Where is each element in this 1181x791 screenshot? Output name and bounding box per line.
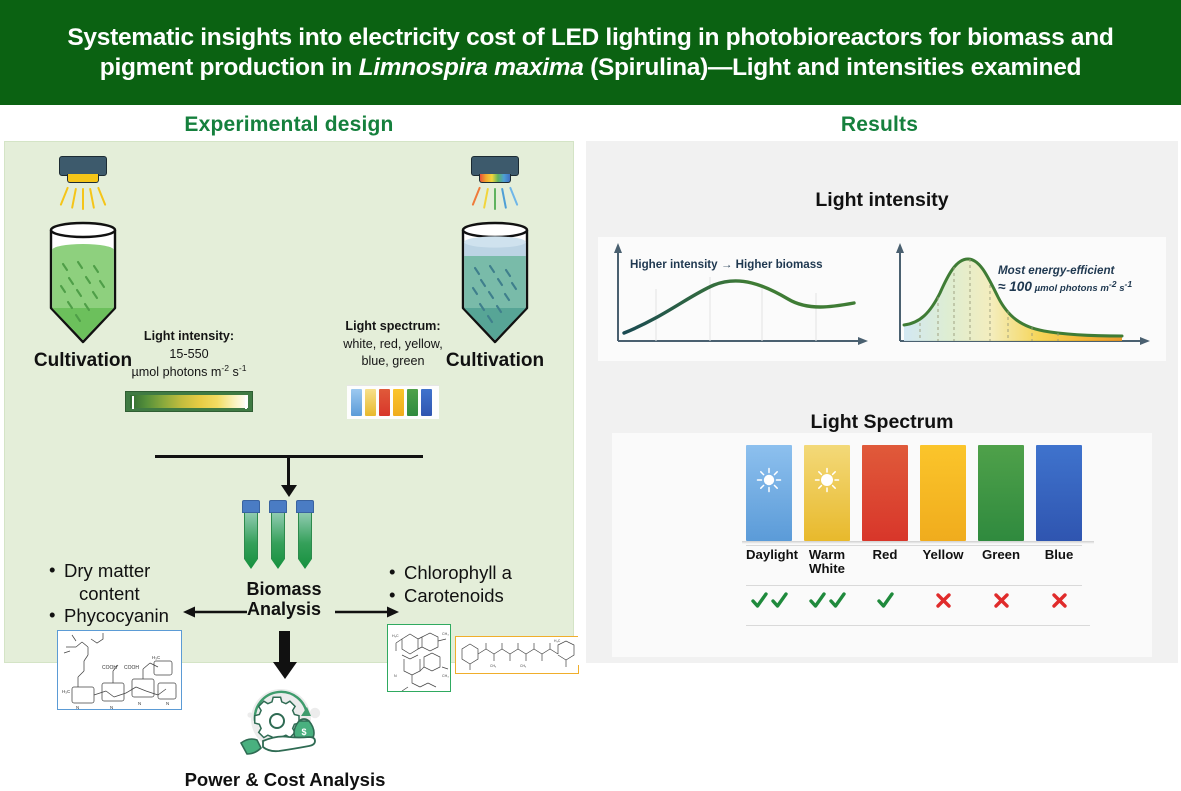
tube-body-icon (244, 513, 258, 569)
spectrum-label-yellow: Yellow (920, 548, 966, 576)
light-intensity-charts-card: Higher intensity → Higher biomass (598, 237, 1166, 361)
cross-icon (992, 591, 1011, 610)
spectrum-bar-group (746, 445, 1082, 541)
lamp-housing-icon (59, 156, 107, 176)
light-ray-icon (509, 187, 519, 206)
experimental-design-header: Experimental design (0, 105, 578, 143)
list-item: Phycocyanin (49, 605, 199, 628)
efficiency-note-line1: Most energy-efficient (998, 264, 1114, 277)
efficiency-note-value: ≈ 100 (998, 279, 1032, 294)
results-header: Results (578, 105, 1181, 143)
svg-text:N: N (138, 701, 141, 706)
light-intensity-heading: Light intensity (586, 189, 1178, 212)
svg-text:H₃C: H₃C (392, 634, 399, 638)
energy-efficiency-annotation: Most energy-efficient ≈ 100 µmol photons… (998, 263, 1150, 296)
rating-yellow (920, 591, 966, 610)
test-tubes-icon (242, 500, 326, 576)
bullet-chlorophyll-a: Chlorophyll a (404, 562, 512, 583)
biomass-chart-annotation: Higher intensity → Higher biomass (630, 257, 823, 272)
spectrum-label-red: Red (862, 548, 908, 576)
chlorophyll-structure-box: H₃C CH₃ CH₃ N (387, 624, 451, 692)
experimental-design-column: Experimental design (0, 105, 578, 665)
bullet-phycocyanin: Phycocyanin (64, 605, 169, 626)
list-item: Dry matter content (49, 560, 199, 605)
svg-text:H₃C: H₃C (62, 689, 70, 694)
light-intensity-info: Light intensity: 15-550 µmol photons m-2… (123, 328, 255, 381)
spectrum-bar-daylight (746, 445, 792, 541)
light-spectrum-title: Light spectrum: (331, 318, 455, 335)
check-icon (876, 591, 895, 610)
svg-text:CH₃: CH₃ (442, 674, 449, 678)
bullet-dry-matter-cont: content (64, 583, 199, 606)
lamp-housing-icon (471, 156, 519, 176)
bullet-dry-matter: Dry matter (64, 560, 150, 581)
spectrum-baseline (742, 541, 1094, 544)
cultivation-label-right: Cultivation (435, 350, 555, 372)
spectrum-column-red (862, 445, 908, 541)
photobioreactor-intensity: Cultivation (23, 154, 143, 228)
bullet-carotenoids: Carotenoids (404, 585, 504, 606)
right-analyte-list: Chlorophyll a Carotenoids (389, 562, 559, 607)
biomass-vs-intensity-chart: Higher intensity → Higher biomass (604, 241, 876, 357)
rating-green (978, 591, 1024, 610)
efficiency-note-units: µmol photons m-2 s-1 (1032, 283, 1132, 294)
power-cost-icon: $ (233, 685, 337, 763)
light-ray-icon (89, 188, 95, 209)
biomass-label-line2: Analysis (247, 599, 321, 619)
spectrum-bar-warm-white (804, 445, 850, 541)
intensity-gradient-fill (130, 395, 248, 408)
experimental-design-panel: Cultivation Light intensity: 15-550 µmol… (4, 141, 574, 663)
mini-swatch-daylight (351, 389, 362, 416)
light-ray-icon (71, 188, 77, 209)
led-lamp-rainbow (435, 154, 555, 228)
check-icon (770, 591, 789, 610)
svg-text:N: N (166, 701, 169, 706)
test-tube-icon (242, 500, 260, 569)
results-panel: Light intensity (586, 141, 1178, 663)
svg-text:H₃C: H₃C (152, 655, 160, 660)
phycocyanin-structure-box: COOH COOH H₃C H₃C N N N N (57, 630, 182, 710)
mini-swatch-yellow (393, 389, 404, 416)
spectrum-column-yellow (920, 445, 966, 541)
tube-cap-icon (242, 500, 260, 513)
light-ray-icon (82, 188, 84, 210)
led-lamp-yellow (23, 154, 143, 228)
mini-spectrum-swatches (347, 385, 439, 419)
mini-swatch-red (379, 389, 390, 416)
light-ray-icon (472, 187, 482, 206)
tube-body-icon (298, 513, 312, 569)
results-column: Results Light intensity (578, 105, 1181, 665)
tube-body-icon (271, 513, 285, 569)
culture-vessel-teal (457, 220, 533, 348)
spectrum-label-warm-white: Warm White (804, 548, 850, 576)
spectrum-rating-row (746, 585, 1082, 610)
dollar-symbol: $ (301, 727, 306, 737)
title-banner: Systematic insights into electricity cos… (0, 0, 1181, 105)
spectrum-column-warm-white (804, 445, 850, 541)
light-ray-icon (60, 187, 70, 206)
spectrum-bottom-rule (746, 625, 1090, 626)
list-item: Carotenoids (389, 585, 559, 608)
spectrum-column-blue (1036, 445, 1082, 541)
light-intensity-range: 15-550 (123, 346, 255, 363)
svg-text:CH₃: CH₃ (442, 632, 449, 636)
svg-text:N: N (110, 705, 113, 710)
mini-swatch-green (407, 389, 418, 416)
check-icon (808, 591, 827, 610)
check-icon (828, 591, 847, 610)
light-ray-icon (501, 188, 507, 209)
title-line-3: examined (971, 54, 1082, 81)
carotenoid-structure-box: H₃C CH₃ CH₃ (455, 636, 579, 674)
tube-cap-icon (269, 500, 287, 513)
cross-icon (1050, 591, 1069, 610)
test-tube-icon (269, 500, 287, 569)
sun-icon (814, 467, 840, 493)
biomass-label-line1: Biomass (246, 579, 321, 599)
species-name: Limnospira maxima (359, 54, 584, 81)
light-ray-icon (97, 187, 107, 206)
struct-label-cooh-1: COOH (102, 665, 117, 671)
cost-arrow-stem (279, 631, 290, 665)
spectrum-bar-red (862, 445, 908, 541)
list-item: Chlorophyll a (389, 562, 559, 585)
intensity-tick-icon (245, 396, 247, 409)
left-analyte-list: Dry matter content Phycocyanin (49, 560, 199, 628)
light-spectrum-card: Daylight Warm White Red Yellow Green (612, 433, 1152, 657)
light-intensity-units: µmol photons m-2 s-1 (123, 363, 255, 381)
title-line-2-post: (Spirulina)—Light and intensities (584, 54, 964, 81)
culture-vessel-green (45, 220, 121, 348)
light-ray-icon (494, 188, 496, 210)
led-emitter-icon (67, 174, 99, 183)
power-cost-label: Power & Cost Analysis (165, 769, 405, 791)
mini-swatch-blue (421, 389, 432, 416)
spectrum-label-daylight: Daylight (746, 548, 792, 576)
spectrum-label-blue: Blue (1036, 548, 1082, 576)
mini-swatch-warm-white (365, 389, 376, 416)
light-ray-icon (483, 188, 489, 209)
check-icon (750, 591, 769, 610)
sun-icon (756, 467, 782, 493)
content-area: Experimental design (0, 105, 1181, 665)
struct-label-cooh-2: COOH (124, 665, 139, 671)
title-line-1: Systematic insights into electricity cos… (67, 24, 1064, 51)
page-title: Systematic insights into electricity cos… (31, 23, 1151, 82)
spectrum-bar-yellow (920, 445, 966, 541)
hand-icon (241, 737, 315, 755)
spectrum-label-row: Daylight Warm White Red Yellow Green (746, 545, 1082, 576)
svg-text:N: N (394, 674, 397, 678)
cross-icon (934, 591, 953, 610)
led-emitter-icon (479, 174, 511, 183)
light-intensity-title: Light intensity: (123, 328, 255, 345)
spectrum-label-green: Green (978, 548, 1024, 576)
energy-efficiency-chart: Most energy-efficient ≈ 100 µmol photons… (886, 241, 1158, 357)
gear-icon (255, 697, 299, 741)
spectrum-bar-green (978, 445, 1024, 541)
svg-text:H₃C: H₃C (554, 639, 561, 643)
photobioreactor-spectrum: Cultivation (435, 154, 555, 228)
spectrum-column-daylight (746, 445, 792, 541)
tube-cap-icon (296, 500, 314, 513)
spectrum-bar-blue (1036, 445, 1082, 541)
rating-daylight (746, 591, 792, 610)
flow-arrow-stem (287, 455, 290, 487)
spectrum-column-green (978, 445, 1024, 541)
flow-arrow-head (281, 485, 297, 497)
light-spectrum-heading: Light Spectrum (586, 411, 1178, 434)
svg-text:N: N (76, 705, 79, 710)
intensity-gradient-bar (125, 391, 253, 412)
rating-blue (1036, 591, 1082, 610)
test-tube-icon (296, 500, 314, 569)
rating-warm-white (804, 591, 850, 610)
rating-red (862, 591, 908, 610)
intensity-tick-icon (132, 396, 134, 409)
